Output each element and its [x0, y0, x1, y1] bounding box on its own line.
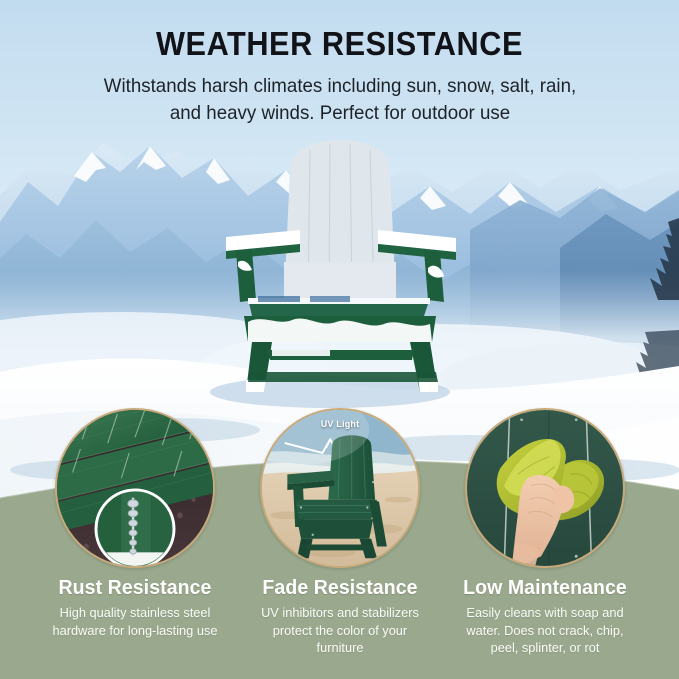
feature-description: High quality stainless steel hardware fo…	[43, 604, 227, 639]
feature-item-rust-resistance[interactable]: Rust Resistance High quality stainless s…	[32, 408, 238, 639]
feature-description: Easily cleans with soap and water. Does …	[453, 604, 637, 657]
infographic-canvas: WEATHER RESISTANCE Withstands harsh clim…	[0, 0, 679, 679]
low-maintenance-image	[465, 408, 625, 568]
page-title: WEATHER RESISTANCE	[24, 0, 655, 63]
page-subtitle: Withstands harsh climates including sun,…	[90, 73, 589, 127]
feature-item-fade-resistance[interactable]: UV Light Fade Resistance UV inhibitors a…	[237, 408, 443, 657]
feature-title: Rust Resistance	[37, 576, 233, 600]
magnifier-inset	[96, 490, 174, 566]
header-block: WEATHER RESISTANCE Withstands harsh clim…	[0, 0, 679, 127]
feature-description: UV inhibitors and stabilizers protect th…	[248, 604, 432, 657]
feature-title: Fade Resistance	[242, 576, 438, 600]
feature-title: Low Maintenance	[447, 576, 643, 600]
rust-resistance-image	[55, 408, 215, 568]
feature-item-low-maintenance[interactable]: Low Maintenance Easily cleans with soap …	[442, 408, 648, 657]
fade-resistance-image: UV Light	[260, 408, 420, 568]
uv-light-label: UV Light	[321, 419, 360, 429]
